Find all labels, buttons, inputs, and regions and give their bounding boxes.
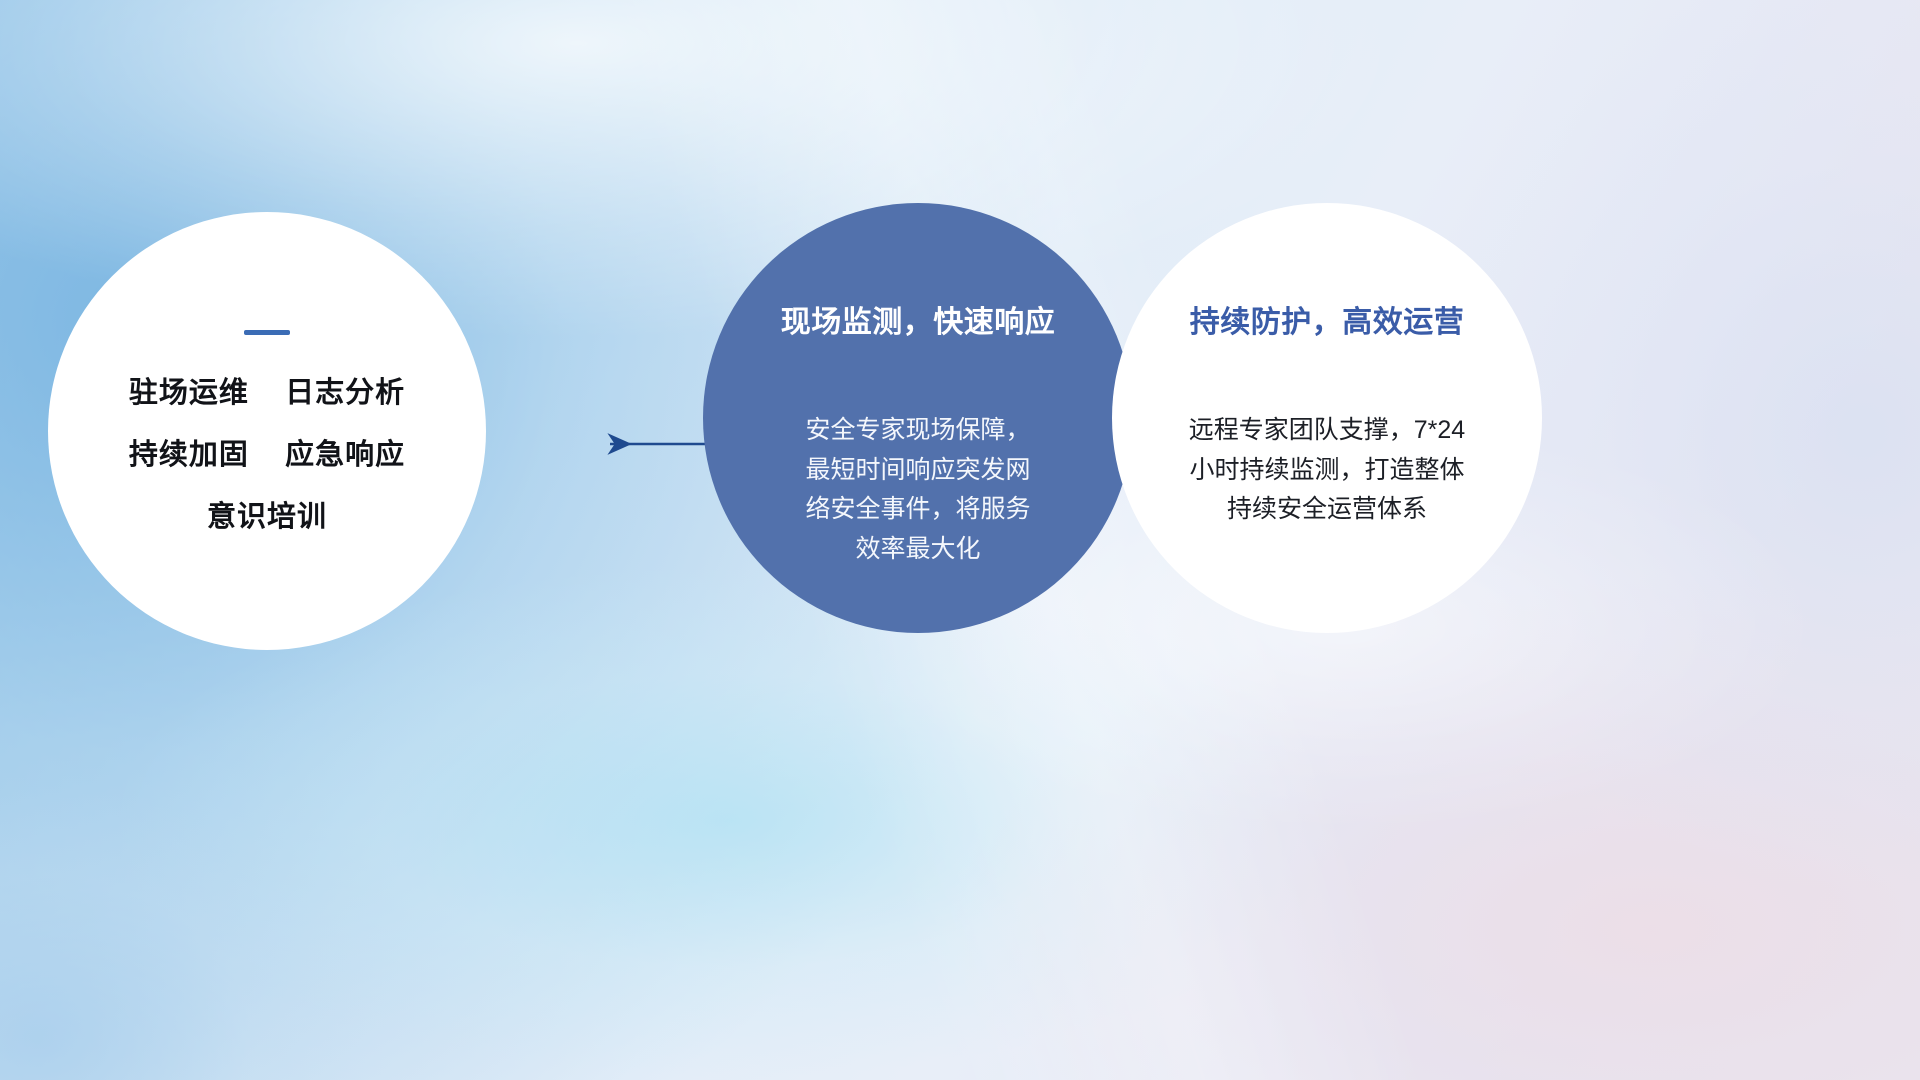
left-circle-line-2: 持续加固 应急响应 [129, 441, 405, 470]
left-circle-line-3: 意识培训 [207, 503, 327, 532]
mid-circle-body: 安全专家现场保障， 最短时间响应突发网 络安全事件，将服务 效率最大化 [805, 411, 1030, 569]
capability-circle-left[interactable]: 驻场运维 日志分析 持续加固 应急响应 意识培训 [48, 212, 486, 650]
capability-circle-onsite[interactable]: 现场监测，快速响应 安全专家现场保障， 最短时间响应突发网 络安全事件，将服务 … [703, 203, 1133, 633]
accent-dash-icon [244, 330, 290, 335]
right-circle-title: 持续防护，高效运营 [1190, 297, 1465, 341]
mid-circle-title: 现场监测，快速响应 [781, 297, 1056, 341]
slide-canvas: 驻场运维 日志分析 持续加固 应急响应 意识培训 现场监测，快速响应 安全专家现… [0, 0, 1920, 1080]
left-circle-line-1: 驻场运维 日志分析 [129, 379, 405, 408]
right-circle-body: 远程专家团队支撑，7*24 小时持续监测，打造整体 持续安全运营体系 [1189, 411, 1465, 530]
capability-circle-continuous[interactable]: 持续防护，高效运营 远程专家团队支撑，7*24 小时持续监测，打造整体 持续安全… [1112, 203, 1542, 633]
